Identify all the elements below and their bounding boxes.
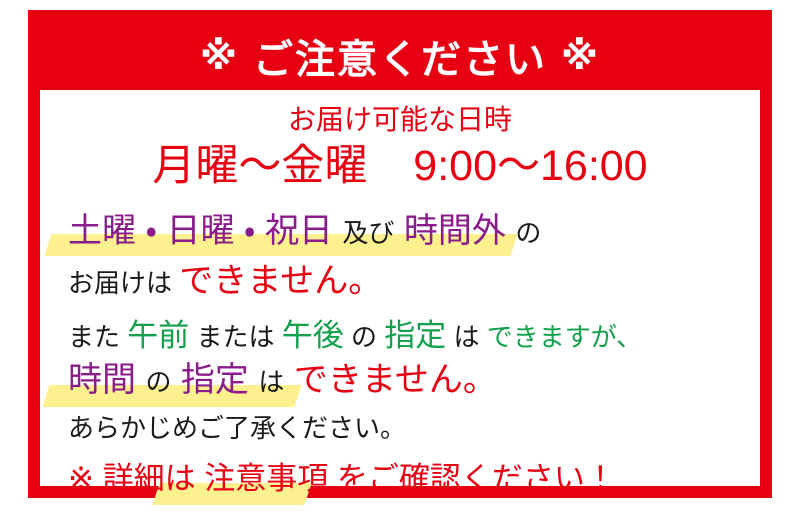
detail-highlighted-term: 注意事項 [204,461,328,496]
delivery-time-value: 9:00〜16:00 [413,142,647,190]
designation-label: 指定 [384,318,446,353]
conjunction-or: または [196,322,274,352]
no-delivery-row: お届けは できません。 [40,264,760,298]
delivery-days-value: 月曜〜金曜 [152,142,367,190]
time-label: 時間 [68,361,136,399]
particle-no: の [351,322,377,352]
notice-body: お届け可能な日時 月曜〜金曜 9:00〜16:00 土曜 ・ 日曜 ・ 祝日 及… [40,90,760,486]
no-delivery-prefix: お届けは [68,268,172,298]
acknowledgement-row: あらかじめご了承ください。 [40,415,760,441]
ampm-allowed-emphasis: できますが、 [487,322,642,352]
excluded-saturday: 土曜 [68,212,136,250]
detail-suffix: をご確認ください！ [337,461,616,496]
no-time-designation-row: 時間 の 指定 は できません。 [40,363,760,397]
delivery-window-label: お届け可能な日時 [40,106,760,134]
excluded-holiday: 祝日 [265,212,333,250]
particle-no: の [515,218,541,248]
acknowledgement-text: あらかじめご了承ください。 [68,413,406,443]
conjunction-also: また [68,322,120,352]
asterisk-mark-icon: ※ [200,34,239,79]
excluded-days-row: 土曜 ・ 日曜 ・ 祝日 及び 時間外 の [40,214,760,248]
separator-dot: ・ [145,212,157,250]
conjunction-and: 及び [342,218,394,248]
notice-card: ※ ご注意ください ※ お届け可能な日時 月曜〜金曜 9:00〜16:00 土曜… [28,10,772,498]
particle-wa: は [258,367,284,397]
asterisk-mark-icon: ※ [68,461,94,496]
banner-title: ご注意ください [253,27,547,85]
no-delivery-emphasis: できません。 [179,262,382,300]
ampm-allowed-row: また 午前 または 午後 の 指定 は できますが、 [40,320,760,351]
asterisk-mark-icon: ※ [561,34,600,79]
excluded-after-hours: 時間外 [404,212,506,250]
afternoon-label: 午後 [282,318,344,353]
no-time-emphasis: できません。 [294,361,497,399]
excluded-sunday: 日曜 [166,212,234,250]
separator-dot: ・ [244,212,256,250]
detail-reference-row: ※ 詳細は 注意事項 をご確認ください！ [40,463,760,494]
delivery-hours-row: 月曜〜金曜 9:00〜16:00 [40,145,760,188]
delivery-window-label-text: お届け可能な日時 [288,104,512,135]
particle-wa: は [453,322,479,352]
detail-prefix: 詳細は [103,461,196,496]
morning-label: 午前 [127,318,189,353]
designation-label: 指定 [181,361,249,399]
notice-banner: ※ ご注意ください ※ [40,22,760,90]
particle-no: の [145,367,171,397]
